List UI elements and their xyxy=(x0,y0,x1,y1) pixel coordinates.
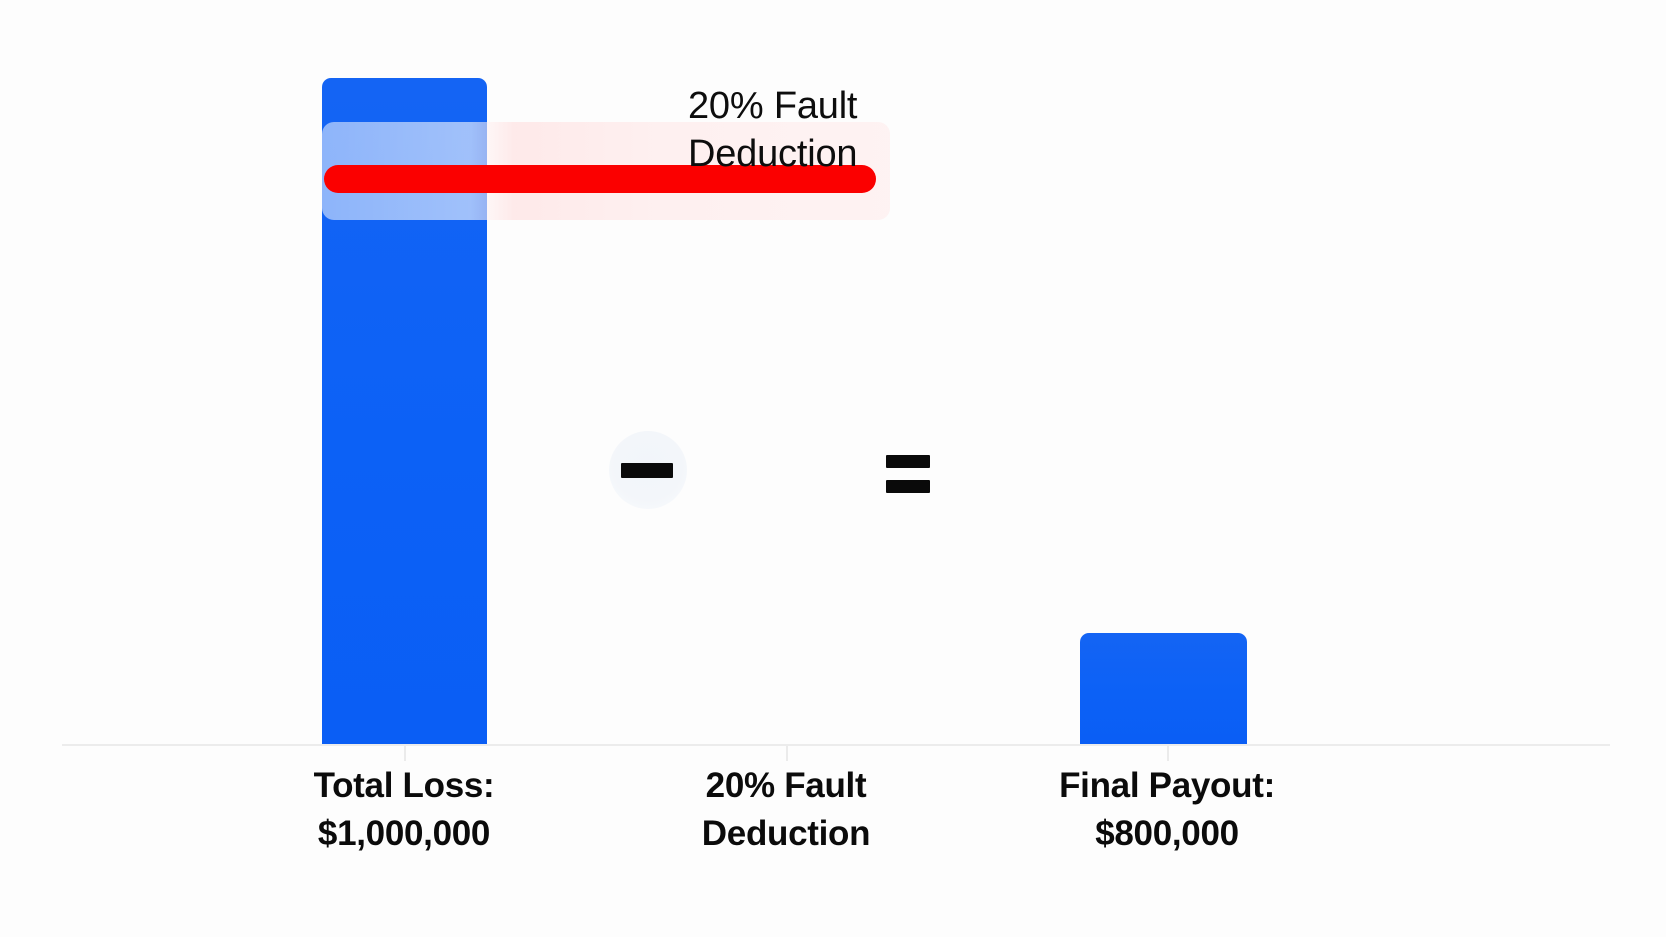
chart-canvas: 20% Fault Deduction Total Loss: $1,000,0… xyxy=(0,0,1666,937)
minus-icon xyxy=(621,463,673,478)
axis-tick-2 xyxy=(786,746,788,761)
category-label-final-payout: Final Payout: $800,000 xyxy=(987,762,1347,858)
deduction-annotation-line1: 20% Fault xyxy=(688,85,857,127)
category-label-total-loss-line1: Total Loss: xyxy=(314,766,495,805)
deduction-annotation-line2: Deduction xyxy=(688,133,857,175)
axis-tick-3 xyxy=(1167,746,1169,761)
equals-icon-bar-bottom xyxy=(886,480,930,493)
equals-icon xyxy=(886,455,930,493)
category-label-fault-deduction-line1: 20% Fault xyxy=(706,766,867,805)
category-label-final-payout-line1: Final Payout: xyxy=(1059,766,1275,805)
bar-final-payout[interactable] xyxy=(1080,633,1247,744)
category-label-fault-deduction-line2: Deduction xyxy=(606,810,966,858)
category-label-fault-deduction: 20% Fault Deduction xyxy=(606,762,966,858)
category-label-final-payout-line2: $800,000 xyxy=(987,810,1347,858)
equals-icon-bar-top xyxy=(886,455,930,468)
category-label-total-loss-line2: $1,000,000 xyxy=(224,810,584,858)
axis-baseline xyxy=(62,744,1610,746)
axis-tick-1 xyxy=(404,746,406,761)
deduction-annotation: 20% Fault Deduction xyxy=(688,82,898,178)
category-label-total-loss: Total Loss: $1,000,000 xyxy=(224,762,584,858)
